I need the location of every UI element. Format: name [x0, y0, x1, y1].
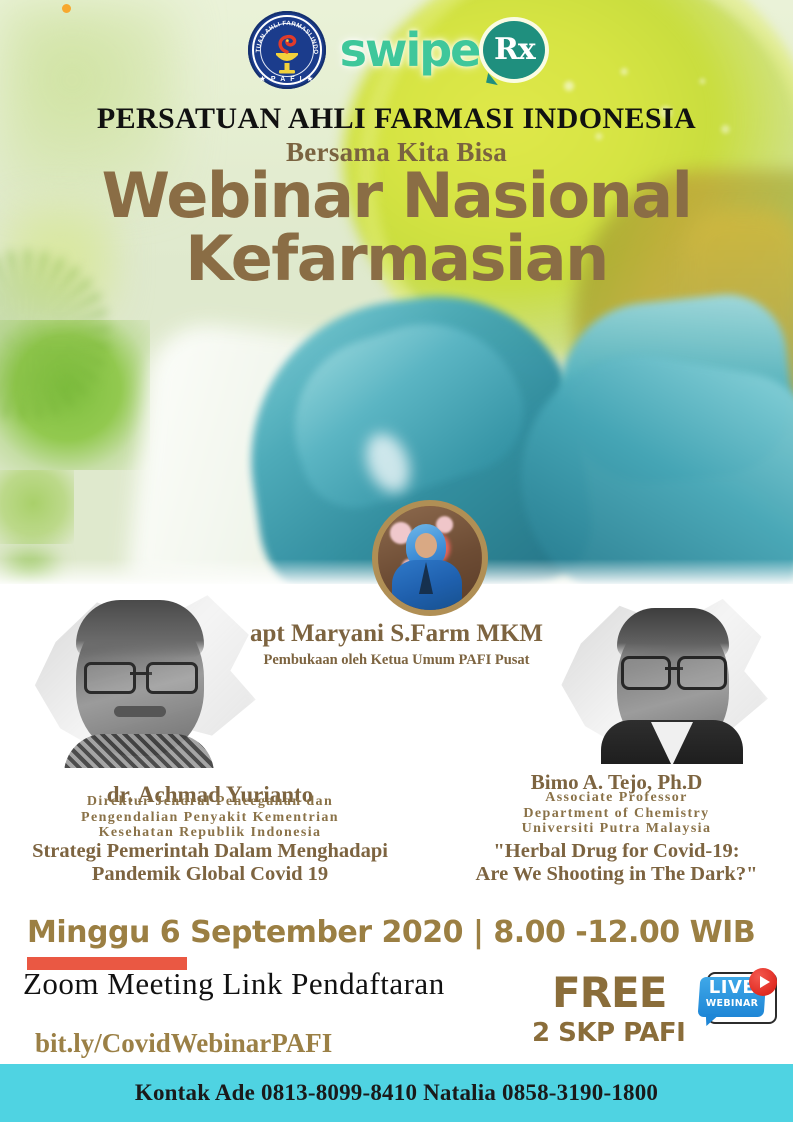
- pafi-rim-text: PERSATUAN AHLI FARMASI INDONESIA: [248, 11, 319, 55]
- zoom-registration-label: Zoom Meeting Link Pendaftaran: [23, 966, 445, 1002]
- hair-shape: [617, 608, 729, 658]
- contact-bar: Kontak Ade 0813-8099-8410 Natalia 0858-3…: [0, 1064, 793, 1122]
- affiliation-line: Kesehatan Republik Indonesia: [0, 825, 420, 841]
- live-webinar-badge: LIVE WEBINAR: [697, 968, 777, 1026]
- play-button-icon: [749, 968, 777, 996]
- affiliation-line: Pengendalian Penyakit Kementrian: [0, 810, 420, 826]
- avatar-maryani: [372, 500, 488, 616]
- logo-row: PERSATUAN AHLI FARMASI INDONESIA ★ P A F…: [0, 6, 793, 94]
- affiliation-line: Universiti Putra Malaysia: [440, 821, 793, 837]
- contact-text: Kontak Ade 0813-8099-8410 Natalia 0858-3…: [135, 1080, 658, 1106]
- pafi-bottom-text: ★ P A F I ★: [259, 75, 314, 83]
- topic-line: Strategi Pemerintah Dalam Menghadapi: [0, 840, 420, 863]
- speaker-affiliation-right: Associate Professor Department of Chemis…: [440, 790, 793, 837]
- speaker-affiliation-left: Direktur Jendral Pencegahan dan Pengenda…: [0, 794, 420, 841]
- topic-line: Are We Shooting in The Dark?": [440, 863, 793, 886]
- rx-text: Rx: [494, 35, 535, 65]
- moustache-shape: [114, 706, 166, 717]
- batik-shirt-shape: [64, 734, 214, 768]
- hair-shape: [76, 600, 204, 658]
- speaker-topic-right: "Herbal Drug for Covid-19: Are We Shooti…: [440, 840, 793, 886]
- schedule-datetime: Minggu 6 September 2020 | 8.00 -12.00 WI…: [27, 915, 755, 950]
- main-title-line-2: Kefarmasian: [0, 229, 793, 290]
- pafi-seal-icon: PERSATUAN AHLI FARMASI INDONESIA ★ P A F…: [248, 11, 326, 89]
- glasses-icon: [621, 656, 727, 684]
- affiliation-line: Associate Professor: [440, 790, 793, 806]
- portrait-bimo-tejo: [555, 592, 770, 764]
- topic-line: Pandemik Global Covid 19: [0, 863, 420, 886]
- page-title: Webinar Nasional Kefarmasian: [0, 166, 793, 290]
- affiliation-line: Direktur Jendral Pencegahan dan: [0, 794, 420, 810]
- svg-text:PERSATUAN AHLI FARMASI INDONES: PERSATUAN AHLI FARMASI INDONESIA: [248, 11, 319, 55]
- portrait-achmad-yurianto: [28, 588, 258, 768]
- free-label: FREE: [552, 968, 666, 1017]
- speaker-topic-left: Strategi Pemerintah Dalam Menghadapi Pan…: [0, 840, 420, 886]
- webinar-text: WEBINAR: [699, 999, 765, 1009]
- affiliation-line: Department of Chemistry: [440, 806, 793, 822]
- skp-credits-label: 2 SKP PAFI: [532, 1018, 685, 1048]
- swipe-i-dot: [62, 4, 71, 13]
- organization-title: PERSATUAN AHLI FARMASI INDONESIA: [0, 102, 793, 136]
- rx-speech-bubble-icon: Rx: [483, 21, 545, 79]
- registration-link[interactable]: bit.ly/CovidWebinarPAFI: [35, 1028, 332, 1059]
- glasses-icon: [84, 662, 198, 688]
- webinar-poster: PERSATUAN AHLI FARMASI INDONESIA ★ P A F…: [0, 0, 793, 1122]
- swipe-wordmark: swipe: [340, 27, 480, 73]
- topic-line: "Herbal Drug for Covid-19:: [440, 840, 793, 863]
- swipe-rx-logo-icon: swipe Rx: [340, 21, 546, 79]
